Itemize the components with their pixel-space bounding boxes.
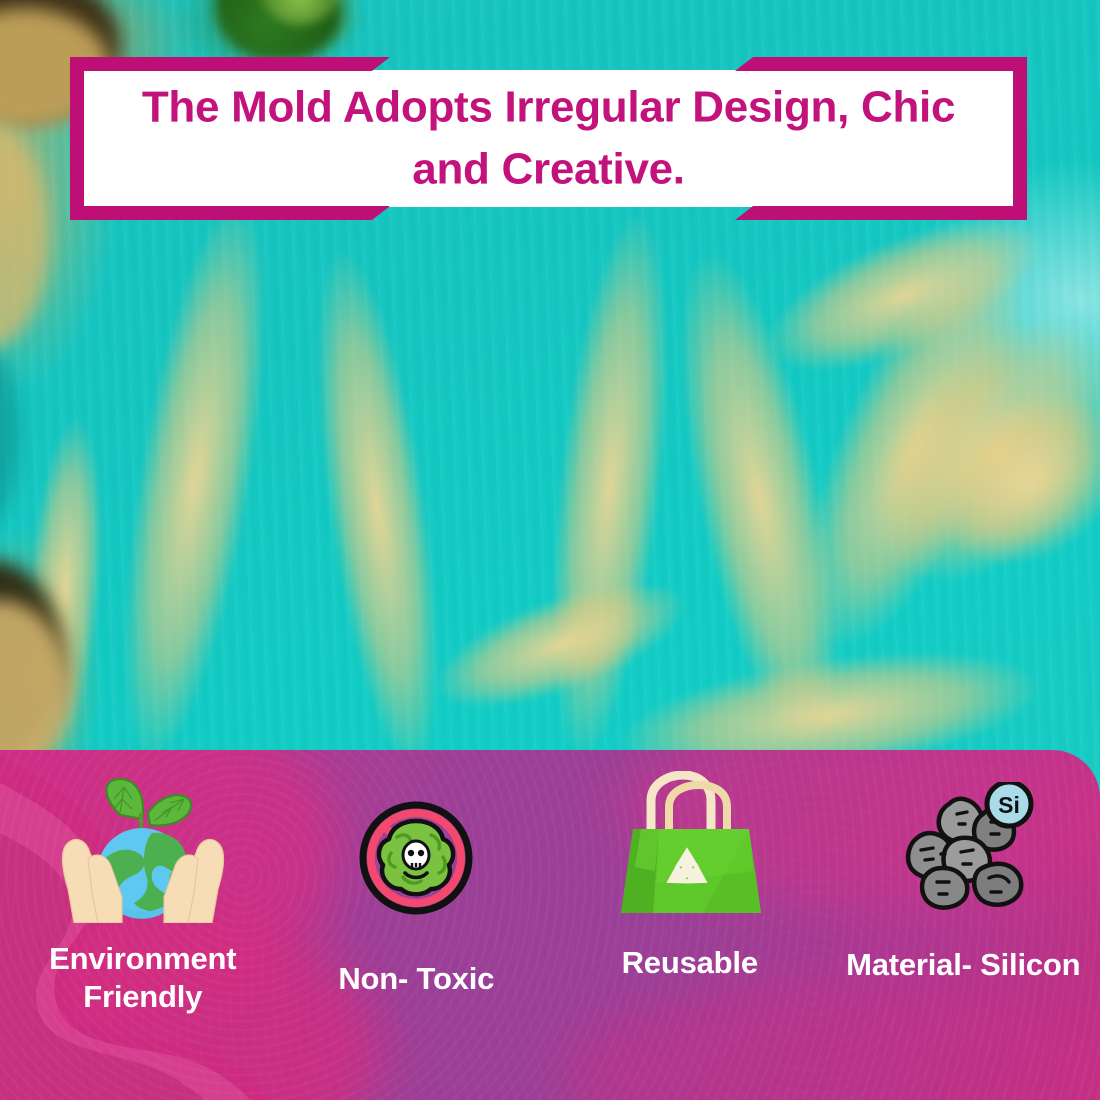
- feature-label: Reusable: [622, 944, 758, 982]
- silicon-rocks-icon: Si: [887, 750, 1039, 932]
- banner-border-top-right: [735, 57, 1027, 71]
- feature-list: Environment Friendly: [0, 750, 1100, 1100]
- banner-border-top-left: [70, 57, 390, 71]
- banner-border-bottom-right: [735, 206, 1027, 220]
- hands-holding-earth-icon: [58, 750, 228, 928]
- headline-banner: The Mold Adopts Irregular Design, Chic a…: [70, 57, 1027, 220]
- banner-border-bottom-left: [70, 206, 390, 220]
- feature-label: Environment Friendly: [6, 940, 280, 1016]
- feature-item-material-silicon[interactable]: Si Material- Silicon: [827, 750, 1100, 984]
- no-toxic-brain-skull-icon: [357, 750, 475, 938]
- feature-label: Material- Silicon: [846, 946, 1080, 984]
- feature-panel: Environment Friendly: [0, 750, 1100, 1100]
- feature-item-environment-friendly[interactable]: Environment Friendly: [6, 750, 280, 1016]
- headline-text: The Mold Adopts Irregular Design, Chic a…: [98, 76, 999, 201]
- feature-label: Non- Toxic: [338, 960, 494, 998]
- poster: The Mold Adopts Irregular Design, Chic a…: [0, 0, 1100, 1100]
- banner-border-left: [70, 57, 84, 220]
- silicon-badge-text: Si: [998, 792, 1020, 818]
- feature-item-non-toxic[interactable]: Non- Toxic: [280, 750, 554, 998]
- recycle-shopping-bag-icon: [611, 750, 769, 926]
- banner-border-right: [1013, 57, 1027, 220]
- feature-item-reusable[interactable]: Reusable: [553, 750, 827, 982]
